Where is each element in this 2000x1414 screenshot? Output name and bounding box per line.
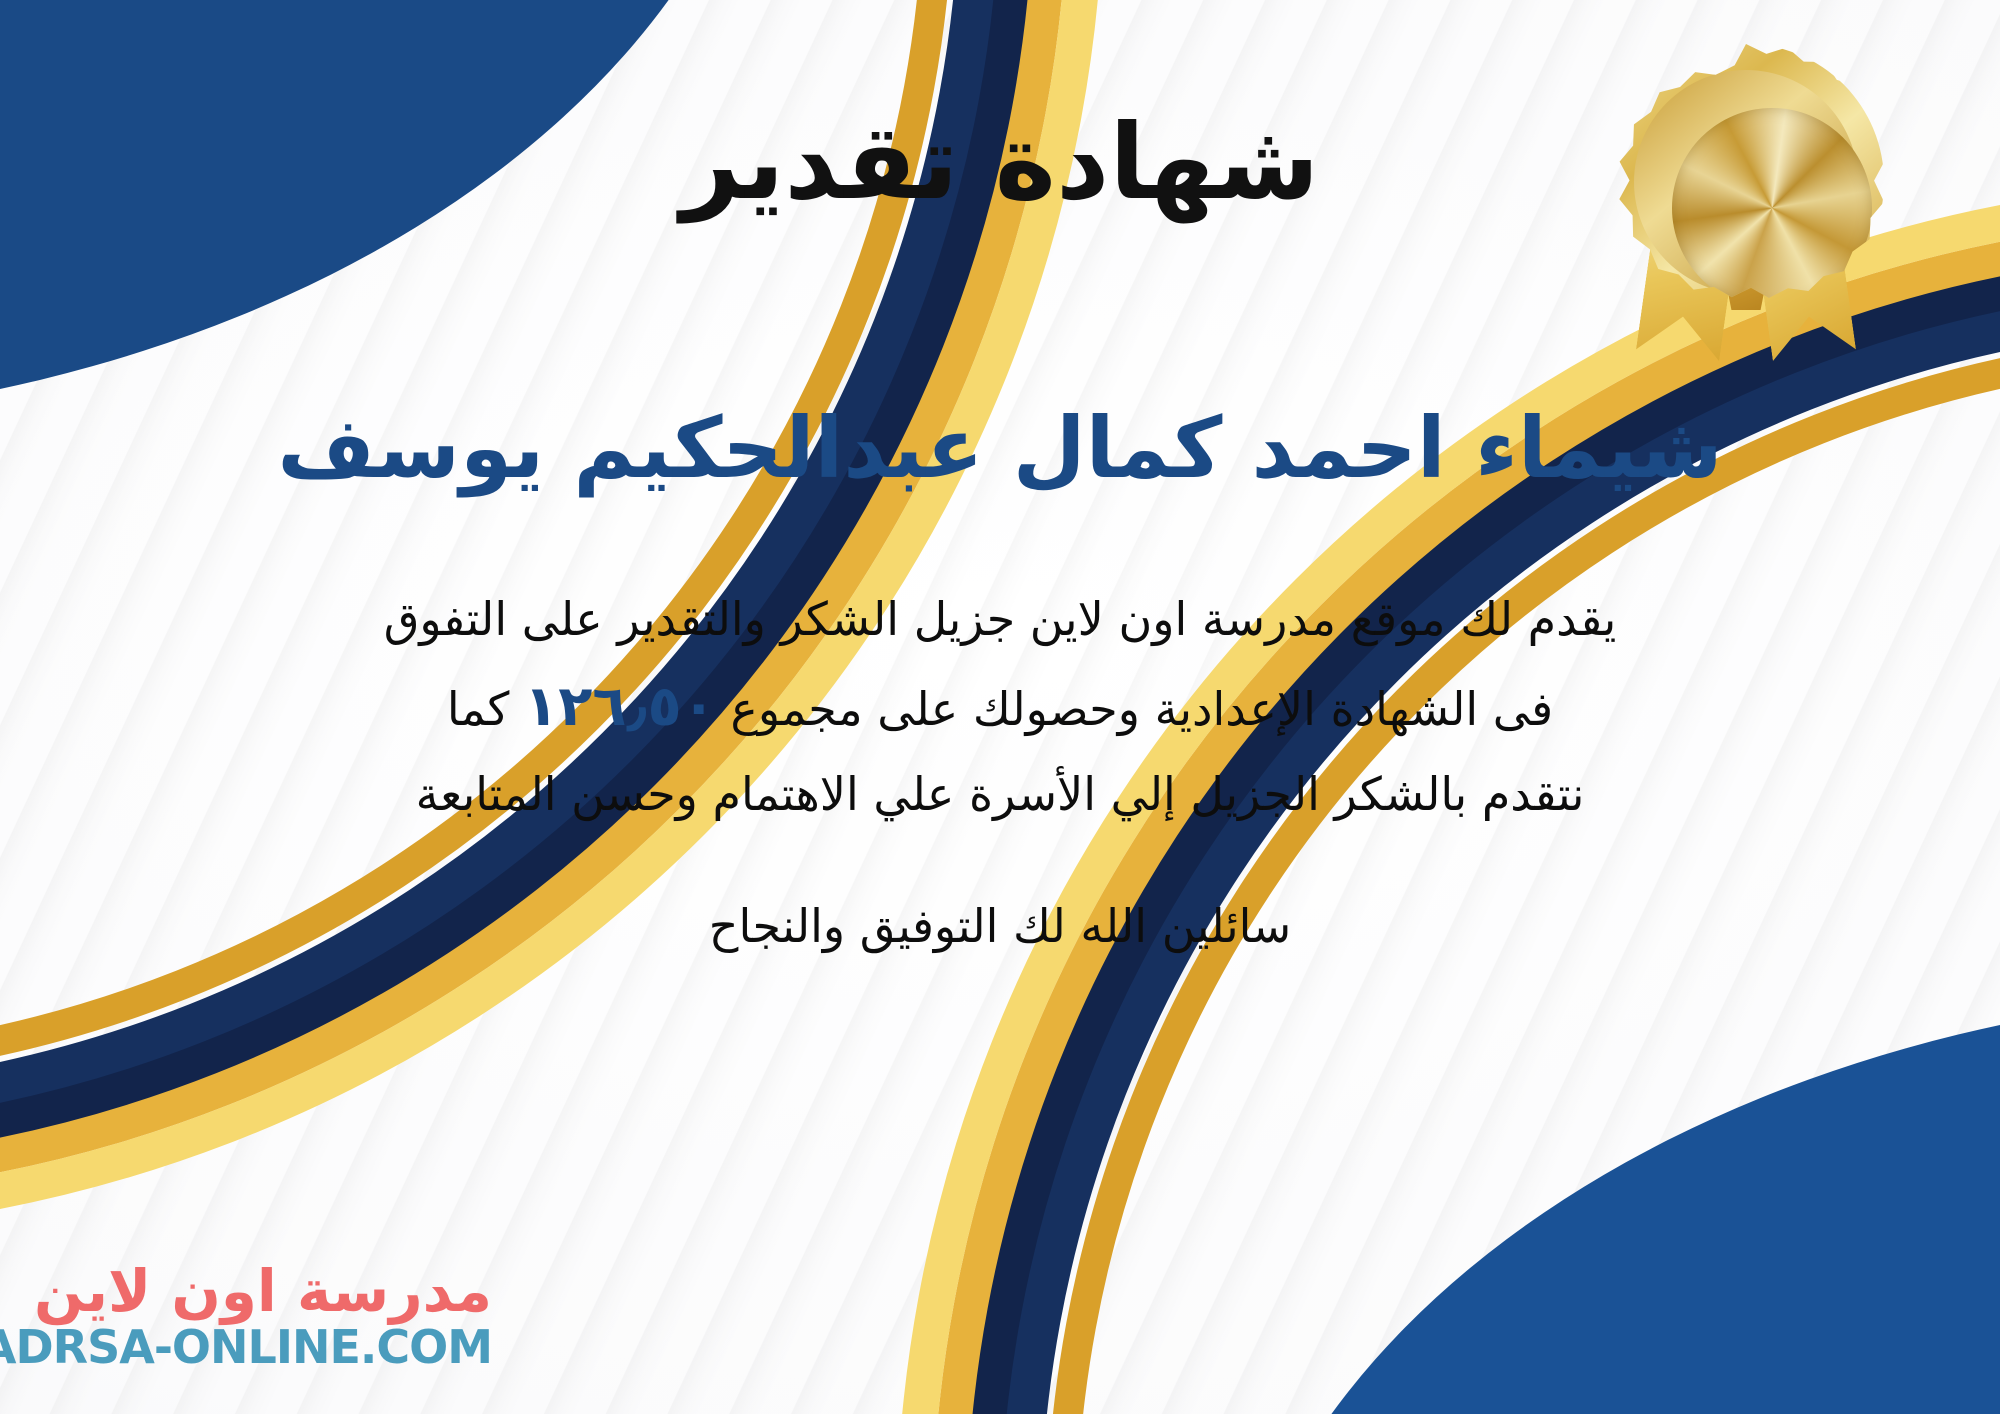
body-line-3: نتقدم بالشكر الجزيل إلي الأسرة علي الاهت… — [40, 755, 1960, 834]
body-line-2-prefix: فى الشهادة الإعدادية وحصولك على مجموع — [730, 682, 1553, 736]
brand-name-arabic: مدرسة اون لاين — [34, 1261, 492, 1322]
brand-logo-text: مدرسة اون لاين MADRSA-ONLINE.COM — [0, 1261, 492, 1372]
certificate-canvas: شهادة تقدير شيماء احمد كمال عبدالحكيم يو… — [0, 0, 2000, 1414]
grade-value: ١٢٦٫٥٠ — [524, 674, 716, 739]
certificate-body: يقدم لك موقع مدرسة اون لاين جزيل الشكر و… — [40, 580, 1960, 835]
certificate-title: شهادة تقدير — [0, 108, 2000, 217]
recipient-name: شيماء احمد كمال عبدالحكيم يوسف — [0, 400, 2000, 497]
body-line-2-suffix: كما — [447, 682, 510, 736]
brand-logo[interactable]: مدرسة اون لاين MADRSA-ONLINE.COM — [22, 1242, 492, 1392]
body-line-1: يقدم لك موقع مدرسة اون لاين جزيل الشكر و… — [40, 580, 1960, 659]
brand-website: MADRSA-ONLINE.COM — [0, 1322, 492, 1373]
closing-line: سائلين الله لك التوفيق والنجاح — [0, 890, 2000, 964]
body-line-2: فى الشهادة الإعدادية وحصولك على مجموع ١٢… — [40, 659, 1960, 755]
